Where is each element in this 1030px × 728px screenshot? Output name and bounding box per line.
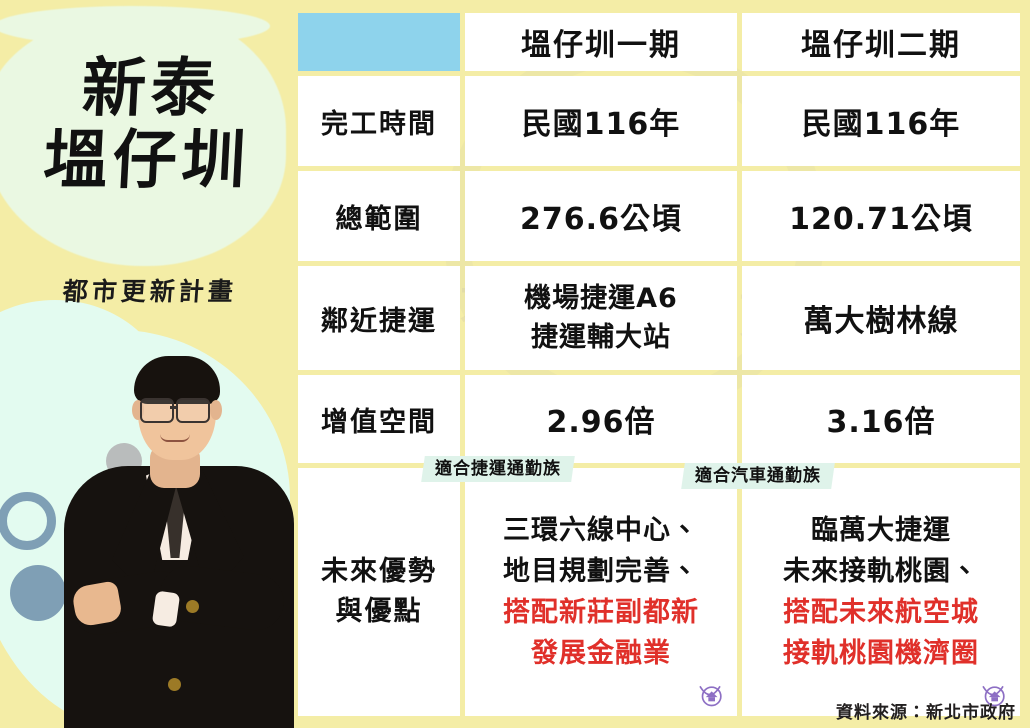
cell-mrt-phase1-line2: 捷運輔大站 (531, 322, 671, 353)
table-row: 鄰近捷運 機場捷運A6 捷運輔大站 萬大樹林線 (298, 266, 1020, 370)
badge-mrt-commuter-label: 適合捷運通勤族 (435, 456, 561, 482)
cell-completion-phase1: 民國116年 (465, 76, 737, 166)
title-line-2: 塭仔圳 (14, 126, 280, 198)
row-label-advantages: 未來優勢 與優點 (298, 468, 460, 716)
row-label-completion: 完工時間 (298, 76, 460, 166)
cell-area-phase2: 120.71公頃 (742, 171, 1020, 261)
table-row: 總範圍 276.6公頃 120.71公頃 (298, 171, 1020, 261)
adv-p2-red-1: 搭配未來航空城 (742, 592, 1020, 633)
agent-portrait-photo (50, 348, 300, 728)
table-header-row: 塭仔圳一期 塭仔圳二期 (298, 13, 1020, 71)
header-phase-2: 塭仔圳二期 (742, 13, 1020, 71)
adv-p2-black-2: 未來接軌桃園、 (742, 551, 1020, 592)
decorative-ring-blue (0, 492, 56, 550)
eyeglasses-icon (140, 398, 174, 423)
comparison-table: 塭仔圳一期 塭仔圳二期 完工時間 民國116年 民國116年 總範圍 276.6… (293, 8, 1025, 721)
badge-mrt-commuter: 適合捷運通勤族 (421, 456, 575, 482)
house-logo-icon (693, 678, 727, 708)
table-row: 增值空間 2.96倍 3.16倍 (298, 375, 1020, 463)
header-blank (298, 13, 460, 71)
poster-subtitle: 都市更新計畫 (9, 272, 292, 308)
badge-car-commuter-label: 適合汽車通勤族 (695, 463, 821, 489)
left-branding-panel: 新泰 塭仔圳 都市更新計畫 (0, 0, 300, 728)
adv-p2-red-2: 接軌桃園機濟圈 (742, 633, 1020, 674)
title-line-1: 新泰 (80, 52, 222, 126)
adv-p1-black-1: 三環六線中心、 (465, 510, 737, 551)
cell-mrt-phase1: 機場捷運A6 捷運輔大站 (465, 266, 737, 370)
adv-p2-black-1: 臨萬大捷運 (742, 510, 1020, 551)
cell-advantages-phase2: 臨萬大捷運 未來接軌桃園、 搭配未來航空城 接軌桃園機濟圈 (742, 468, 1020, 716)
cell-mrt-phase2: 萬大樹林線 (742, 266, 1020, 370)
adv-p1-red-1: 搭配新莊副都新 (465, 592, 737, 633)
badge-car-commuter: 適合汽車通勤族 (681, 463, 835, 489)
cell-mrt-phase1-line1: 機場捷運A6 (524, 283, 678, 314)
source-footnote: 資料來源：新北市政府 (836, 698, 1016, 723)
comparison-table-wrapper: 不動產小文 塭仔圳一期 塭仔圳二期 完工時間 民國116年 民國116年 總範圍 (293, 8, 1023, 696)
table-row: 未來優勢 與優點 三環六線中心、 地目規劃完善、 搭配新莊副都新 發展金融業 (298, 468, 1020, 716)
poster-title: 新泰 塭仔圳 (14, 54, 284, 197)
cell-area-phase1: 276.6公頃 (465, 171, 737, 261)
cell-growth-phase1: 2.96倍 (465, 375, 737, 463)
header-phase-1: 塭仔圳一期 (465, 13, 737, 71)
row-label-growth: 增值空間 (298, 375, 460, 463)
row-label-total-area: 總範圍 (298, 171, 460, 261)
cell-growth-phase2: 3.16倍 (742, 375, 1020, 463)
row-label-nearby-mrt: 鄰近捷運 (298, 266, 460, 370)
row-label-advantages-line1: 未來優勢 (321, 556, 437, 587)
cell-completion-phase2: 民國116年 (742, 76, 1020, 166)
poster-root: 新泰 塭仔圳 都市更新計畫 (0, 0, 1030, 728)
row-label-advantages-line2: 與優點 (336, 596, 423, 627)
adv-p1-red-2: 發展金融業 (465, 633, 737, 674)
cell-advantages-phase1: 三環六線中心、 地目規劃完善、 搭配新莊副都新 發展金融業 (465, 468, 737, 716)
adv-p1-black-2: 地目規劃完善、 (465, 551, 737, 592)
table-row: 完工時間 民國116年 民國116年 (298, 76, 1020, 166)
